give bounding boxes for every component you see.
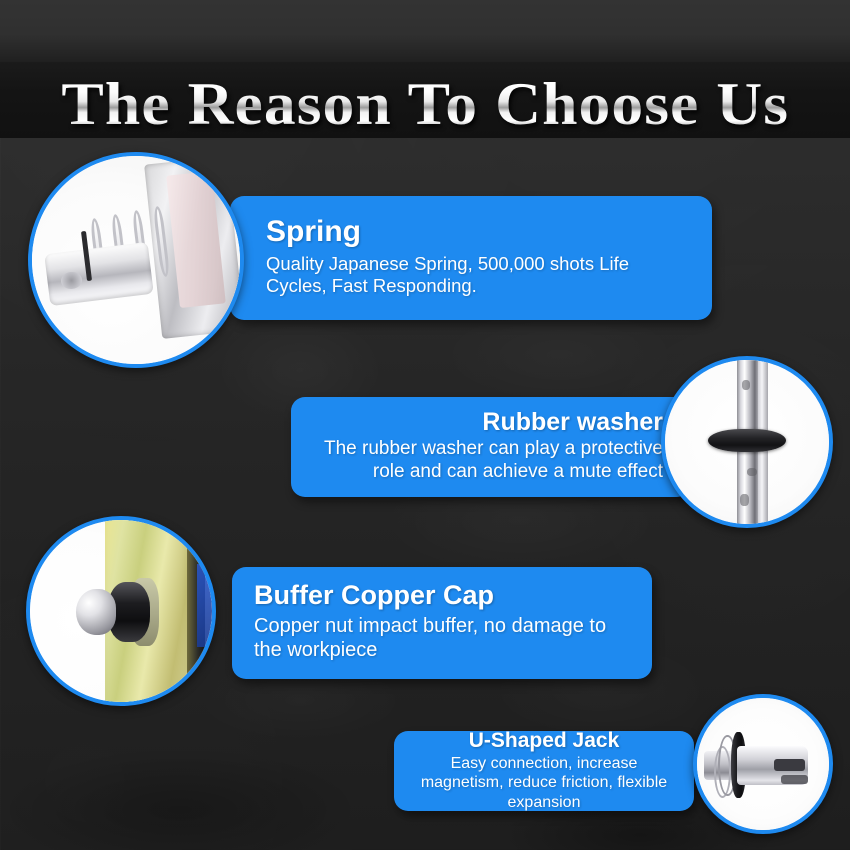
copper-cap-illustration [30, 520, 212, 702]
spring-latch-illustration [32, 156, 240, 364]
u-shaped-jack-illustration [697, 698, 829, 830]
rubber-washer-on-rod-photo [661, 356, 833, 528]
copper-cap-bracket-photo [26, 516, 216, 706]
feature-heading-rubber-washer: Rubber washer [313, 409, 663, 436]
feature-heading-spring: Spring [266, 216, 690, 248]
feature-body-u-shaped-jack: Easy connection, increase magnetism, red… [410, 754, 678, 813]
feature-panel-u-shaped-jack: U-Shaped Jack Easy connection, increase … [394, 731, 694, 811]
feature-panel-rubber-washer: Rubber washer The rubber washer can play… [291, 397, 691, 497]
feature-body-rubber-washer: The rubber washer can play a protective … [313, 437, 663, 483]
u-shaped-jack-photo [693, 694, 833, 834]
feature-body-buffer-copper-cap: Copper nut impact buffer, no damage to t… [254, 614, 630, 663]
feature-heading-u-shaped-jack: U-Shaped Jack [410, 730, 678, 752]
page-header: The Reason To Choose Us [0, 68, 850, 140]
feature-panel-spring: Spring Quality Japanese Spring, 500,000 … [230, 196, 712, 320]
spring-latch-photo [28, 152, 244, 368]
background-top-strip [0, 0, 850, 62]
page-title: The Reason To Choose Us [61, 74, 789, 134]
feature-panel-buffer-copper-cap: Buffer Copper Cap Copper nut impact buff… [232, 567, 652, 679]
feature-body-spring: Quality Japanese Spring, 500,000 shots L… [266, 253, 690, 298]
rubber-washer-illustration [665, 360, 829, 524]
feature-heading-buffer-copper-cap: Buffer Copper Cap [254, 581, 630, 610]
